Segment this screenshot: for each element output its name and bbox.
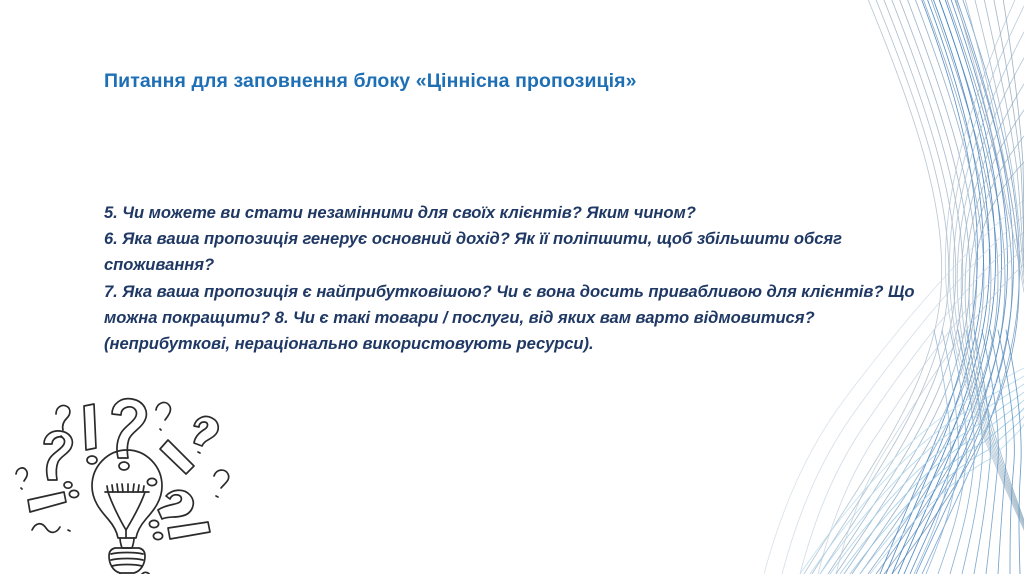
question-paragraph-6: 6. Яка ваша пропозиція генерує основний … <box>104 226 934 278</box>
slide-canvas: Питання для заповнення блоку «Ціннісна п… <box>0 0 1024 574</box>
lightbulb-with-question-marks-icon <box>8 388 246 574</box>
page-title: Питання для заповнення блоку «Ціннісна п… <box>104 68 844 94</box>
question-paragraph-7: 7. Яка ваша пропозиція є найприбутковішо… <box>104 279 934 358</box>
question-paragraph-5: 5. Чи можете ви стати незамінними для св… <box>104 200 934 226</box>
body-text-block: 5. Чи можете ви стати незамінними для св… <box>104 200 934 357</box>
